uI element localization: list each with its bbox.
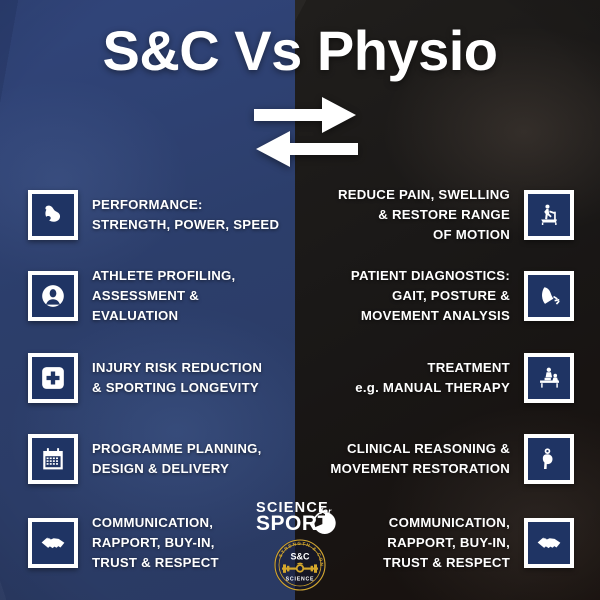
page-title: S&C Vs Physio (0, 18, 600, 83)
list-item-label: PERFORMANCE: STRENGTH, POWER, SPEED (92, 195, 290, 235)
list-item-label: ATHLETE PROFILING, ASSESSMENT & EVALUATI… (92, 266, 290, 326)
sc-science-badge: STRENGTH & CONDITIONING S&C SCIENCE (272, 537, 328, 593)
person-profile-icon (28, 271, 78, 321)
muscle-arm-icon (28, 190, 78, 240)
brand-logo[interactable]: SCIENCE for SPORT STRENGTH & CONDITIONIN… (248, 500, 352, 593)
list-item-label: PROGRAMME PLANNING, DESIGN & DELIVERY (92, 439, 290, 479)
list-item[interactable]: CLINICAL REASONING & MOVEMENT RESTORATIO… (302, 433, 574, 485)
list-item-label: CLINICAL REASONING & MOVEMENT RESTORATIO… (302, 439, 510, 479)
list-item-label: PATIENT DIAGNOSTICS: GAIT, POSTURE & MOV… (302, 266, 510, 326)
arrow-left-icon (256, 131, 358, 167)
handshake-icon (28, 518, 78, 568)
medical-cross-icon (28, 353, 78, 403)
badge-bottom-text: SCIENCE (286, 577, 315, 583)
exchange-arrows (252, 95, 360, 170)
list-item[interactable]: PATIENT DIAGNOSTICS: GAIT, POSTURE & MOV… (302, 270, 574, 322)
list-item-label: INJURY RISK REDUCTION & SPORTING LONGEVI… (92, 358, 290, 398)
massage-table-icon (524, 353, 574, 403)
list-item[interactable]: INJURY RISK REDUCTION & SPORTING LONGEVI… (28, 352, 290, 404)
list-item[interactable]: PERFORMANCE: STRENGTH, POWER, SPEED (28, 189, 290, 241)
list-item-label: REDUCE PAIN, SWELLING & RESTORE RANGE OF… (302, 185, 510, 245)
calendar-icon (28, 434, 78, 484)
treadmill-icon (524, 190, 574, 240)
foot-ankle-pain-icon (524, 271, 574, 321)
infographic-canvas: S&C Vs Physio PERFORMANCE: STRENGTH, POW… (0, 0, 600, 600)
list-item-label: TREATMENT e.g. MANUAL THERAPY (302, 358, 510, 398)
handshake-icon (524, 518, 574, 568)
swoosh-icon (310, 511, 340, 535)
badge-top-text: S&C (290, 552, 310, 562)
list-item[interactable]: TREATMENT e.g. MANUAL THERAPY (302, 352, 574, 404)
brand-wordmark: SCIENCE for SPORT (248, 500, 352, 534)
arrow-right-icon (254, 97, 356, 133)
list-item[interactable]: ATHLETE PROFILING, ASSESSMENT & EVALUATI… (28, 270, 290, 322)
list-item[interactable]: PROGRAMME PLANNING, DESIGN & DELIVERY (28, 433, 290, 485)
list-item[interactable]: REDUCE PAIN, SWELLING & RESTORE RANGE OF… (302, 189, 574, 241)
spine-posture-icon (524, 434, 574, 484)
